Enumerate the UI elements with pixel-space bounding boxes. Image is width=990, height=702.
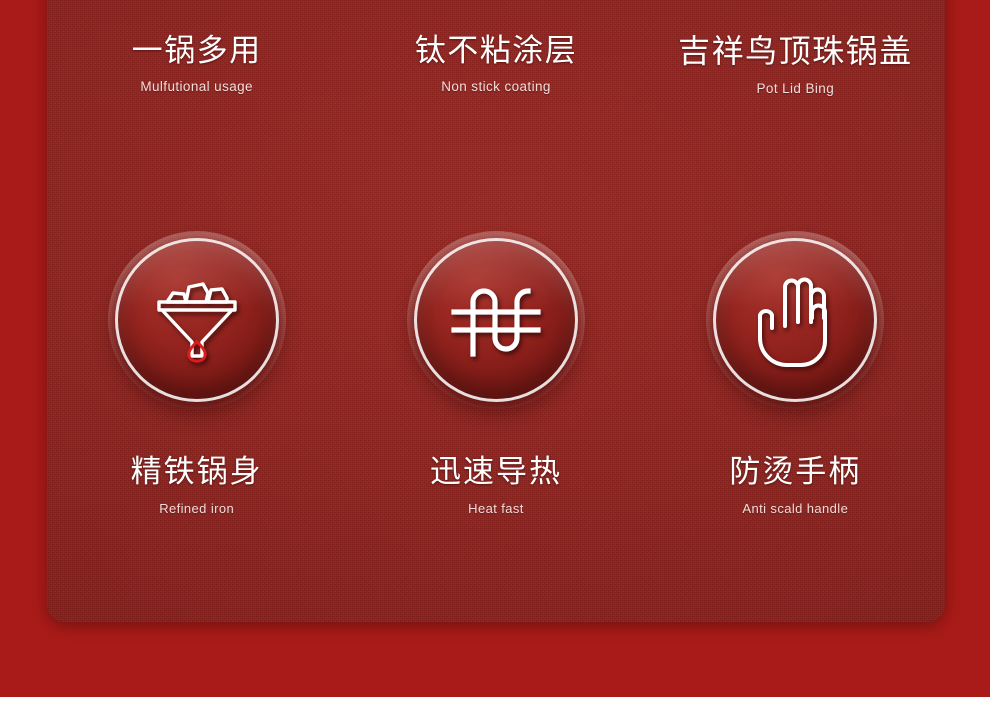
bottom-white-strip	[0, 697, 990, 702]
bottom-feature-row: 精铁锅身 Refined iron 迅速导热 Heat fast 防烫手柄 An…	[47, 455, 945, 517]
ore-funnel-droplet-icon	[151, 272, 243, 368]
feature-label-anti-scald: 防烫手柄 Anti scald handle	[646, 455, 945, 517]
feature-title-en: Refined iron	[159, 501, 234, 517]
feature-item-multi-use: 一锅多用 Mulfutional usage	[47, 34, 346, 97]
feature-title-cn: 迅速导热	[430, 455, 562, 489]
feature-title-en: Heat fast	[468, 501, 524, 517]
feature-title-en: Non stick coating	[441, 79, 551, 95]
heating-coil-grid-icon	[448, 278, 544, 362]
feature-title-cn: 吉祥鸟顶珠锅盖	[678, 34, 913, 68]
open-hand-palm-icon	[756, 272, 834, 368]
icon-badge	[713, 238, 877, 402]
feature-icon-anti-scald	[646, 238, 945, 402]
feature-label-heat-fast: 迅速导热 Heat fast	[346, 455, 645, 517]
icon-circle	[414, 238, 578, 402]
icon-circle	[713, 238, 877, 402]
icon-badge	[115, 238, 279, 402]
feature-item-non-stick: 钛不粘涂层 Non stick coating	[346, 34, 645, 97]
feature-title-cn: 防烫手柄	[729, 455, 861, 489]
feature-title-cn: 一锅多用	[132, 34, 262, 68]
feature-label-refined-iron: 精铁锅身 Refined iron	[47, 455, 346, 517]
feature-icon-heat-fast	[346, 238, 645, 402]
feature-title-cn: 钛不粘涂层	[415, 34, 578, 68]
feature-title-cn: 精铁锅身	[131, 455, 263, 489]
feature-item-pot-lid: 吉祥鸟顶珠锅盖 Pot Lid Bing	[646, 34, 945, 97]
feature-card: 一锅多用 Mulfutional usage 钛不粘涂层 Non stick c…	[47, 0, 945, 622]
top-feature-row: 一锅多用 Mulfutional usage 钛不粘涂层 Non stick c…	[47, 34, 945, 97]
feature-title-en: Pot Lid Bing	[757, 81, 835, 97]
feature-icon-row	[47, 238, 945, 402]
feature-title-en: Mulfutional usage	[140, 79, 253, 95]
icon-badge	[414, 238, 578, 402]
feature-icon-refined-iron	[47, 238, 346, 402]
icon-circle	[115, 238, 279, 402]
feature-title-en: Anti scald handle	[742, 501, 848, 517]
